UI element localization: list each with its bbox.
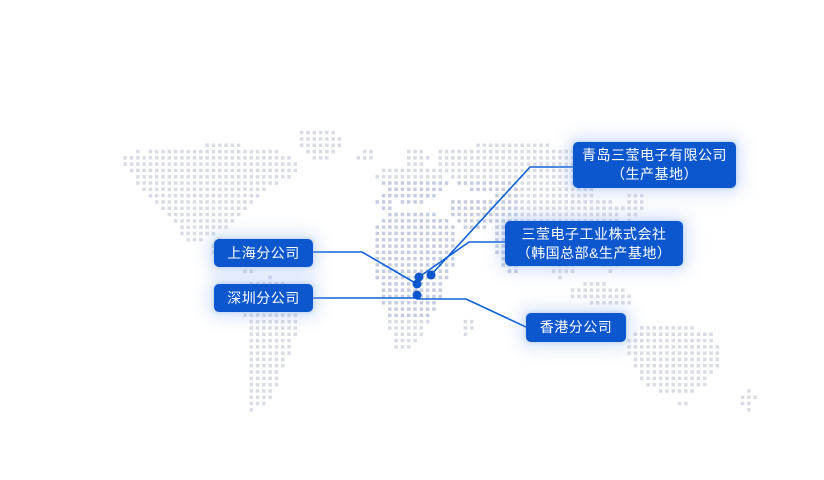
callout-shenzhen[interactable]: 深圳分公司 (214, 284, 313, 312)
callout-shenzhen-line-1: 深圳分公司 (227, 289, 300, 308)
callout-qingdao-line-1: 青岛三莹电子有限公司 (582, 146, 727, 165)
callout-qingdao-line-2: （生产基地） (611, 165, 698, 184)
callout-hongkong-line-1: 香港分公司 (540, 318, 613, 337)
world-map-dots (0, 0, 824, 480)
callout-qingdao[interactable]: 青岛三莹电子有限公司 （生产基地） (573, 142, 736, 188)
callout-shanghai[interactable]: 上海分公司 (214, 239, 313, 267)
world-map-background (0, 0, 824, 480)
world-map-locations-graphic: 青岛三莹电子有限公司 （生产基地） 三莹电子工业株式会社 （韩国总部&生产基地）… (0, 0, 824, 480)
callout-korea[interactable]: 三莹电子工业株式会社 （韩国总部&生产基地） (505, 221, 683, 266)
callout-shanghai-line-1: 上海分公司 (227, 244, 300, 263)
callout-korea-line-2: （韩国总部&生产基地） (517, 244, 672, 263)
callout-hongkong[interactable]: 香港分公司 (526, 313, 626, 342)
callout-korea-line-1: 三莹电子工业株式会社 (522, 225, 667, 244)
